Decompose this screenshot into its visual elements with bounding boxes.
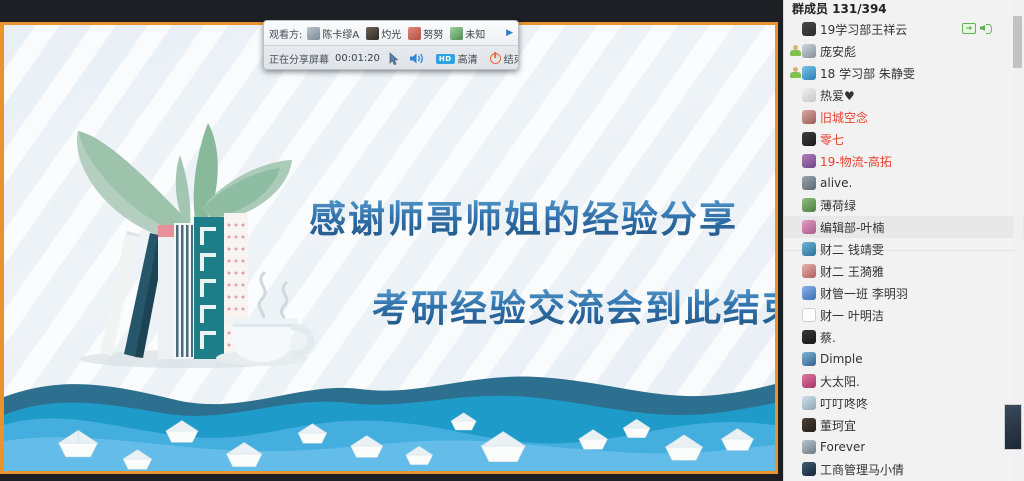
avatar xyxy=(802,176,816,190)
member-row[interactable]: 零七 xyxy=(784,128,1024,150)
avatar xyxy=(802,462,816,476)
member-row[interactable]: 大太阳. xyxy=(784,370,1024,392)
member-row[interactable]: 叮叮咚咚 xyxy=(784,392,1024,414)
member-name: 叮叮咚咚 xyxy=(820,395,868,412)
wave-decoration xyxy=(4,351,775,471)
power-icon xyxy=(490,53,501,64)
viewer-chip-3[interactable]: 未知 xyxy=(450,26,485,41)
viewers-label: 观看方: xyxy=(269,26,302,41)
member-row[interactable]: alive. xyxy=(784,172,1024,194)
member-row[interactable]: 旧城空念 xyxy=(784,106,1024,128)
member-row[interactable]: 财二 王漪雅 xyxy=(784,260,1024,282)
member-row[interactable]: 蔡. xyxy=(784,326,1024,348)
member-row[interactable]: Forever xyxy=(784,436,1024,458)
hd-badge: HD xyxy=(436,54,455,64)
member-name: 零七 xyxy=(820,131,844,148)
member-name: 编辑部-叶楠 xyxy=(820,219,884,236)
member-name: 财二 王漪雅 xyxy=(820,263,884,280)
hd-label: 高清 xyxy=(458,51,478,66)
avatar xyxy=(802,88,816,102)
video-thumbnail-preview[interactable] xyxy=(1004,404,1022,450)
avatar xyxy=(802,242,816,256)
avatar xyxy=(802,132,816,146)
slide-headline-secondary: 考研经验交流会到此结束 xyxy=(372,278,775,332)
member-name: 19-物流-高拓 xyxy=(820,153,892,170)
member-row[interactable]: 庞安彪 xyxy=(784,40,1024,62)
avatar xyxy=(802,110,816,124)
screen-share-highlight-frame: 感谢师哥师姐的经验分享 考研经验交流会到此结束 xyxy=(0,22,778,474)
viewer-name: 未知 xyxy=(465,26,485,41)
avatar xyxy=(802,154,816,168)
member-name: 庞安彪 xyxy=(820,43,856,60)
viewer-avatar xyxy=(366,27,379,40)
member-row-icons xyxy=(962,22,992,34)
viewer-chip-0[interactable]: 陈卡缪A xyxy=(307,26,359,41)
avatar xyxy=(802,198,816,212)
scrollbar-thumb[interactable] xyxy=(1013,16,1022,68)
avatar xyxy=(802,22,816,36)
member-row[interactable]: 热爱♥ xyxy=(784,84,1024,106)
sharing-status-label: 正在分享屏幕 xyxy=(269,51,329,66)
member-row[interactable]: 薄荷绿 xyxy=(784,194,1024,216)
member-panel-header: 群成员 131/394 xyxy=(784,0,1024,18)
member-row[interactable]: 18 学习部 朱静雯 xyxy=(784,62,1024,84)
avatar xyxy=(802,440,816,454)
viewer-avatar xyxy=(450,27,463,40)
viewer-name: 陈卡缪A xyxy=(322,26,359,41)
member-name: 财一 叶明洁 xyxy=(820,307,884,324)
avatar xyxy=(802,352,816,366)
end-share-button[interactable]: 结束分享 xyxy=(490,51,519,66)
member-row[interactable]: 财二 钱靖雯 xyxy=(784,238,1024,260)
share-screen-icon[interactable] xyxy=(962,23,976,34)
slide-headline-primary: 感谢师哥师姐的经验分享 xyxy=(309,189,738,243)
cursor-pointer-icon[interactable] xyxy=(388,52,401,66)
avatar xyxy=(802,330,816,344)
avatar xyxy=(802,418,816,432)
viewer-name: 灼光 xyxy=(381,26,401,41)
avatar xyxy=(802,374,816,388)
member-row[interactable]: 19-物流-高拓 xyxy=(784,150,1024,172)
member-name: alive. xyxy=(820,176,852,190)
avatar xyxy=(802,396,816,410)
viewer-name: 努努 xyxy=(423,26,443,41)
screen-share-toolbar[interactable]: 观看方: 陈卡缪A 灼光 努努 未知 ▶ 正在分享屏幕 00:01:20 xyxy=(263,20,519,70)
speaker-volume-icon[interactable] xyxy=(409,52,424,65)
member-name: 财管一班 李明羽 xyxy=(820,285,908,302)
group-member-panel: 群成员 131/394 19学习部王祥云庞安彪18 学习部 朱静雯热爱♥旧城空念… xyxy=(783,0,1024,481)
avatar xyxy=(802,66,816,80)
share-timer: 00:01:20 xyxy=(335,53,380,64)
end-share-label: 结束分享 xyxy=(504,51,519,66)
member-row[interactable]: Dimple xyxy=(784,348,1024,370)
member-row[interactable]: 财一 叶明洁 xyxy=(784,304,1024,326)
member-row[interactable]: 工商管理马小倩 xyxy=(784,458,1024,480)
member-role-icon xyxy=(790,45,801,57)
hd-quality-button[interactable]: HD 高清 xyxy=(436,51,478,66)
member-name: 旧城空念 xyxy=(820,109,868,126)
avatar xyxy=(802,286,816,300)
toolbar-status-row: 正在分享屏幕 00:01:20 HD 高清 结束分享 xyxy=(264,46,518,70)
book-stack xyxy=(100,213,248,359)
member-row[interactable]: 财管一班 李明羽 xyxy=(784,282,1024,304)
member-name: 热爱♥ xyxy=(820,87,855,104)
member-name: 董珂宜 xyxy=(820,417,856,434)
avatar xyxy=(802,308,816,322)
presentation-slide: 感谢师哥师姐的经验分享 考研经验交流会到此结束 xyxy=(4,25,775,471)
member-name: 薄荷绿 xyxy=(820,197,856,214)
avatar xyxy=(802,44,816,58)
viewer-chip-2[interactable]: 努努 xyxy=(408,26,443,41)
member-row[interactable]: 19学习部王祥云 xyxy=(784,18,1024,40)
member-list[interactable]: 19学习部王祥云庞安彪18 学习部 朱静雯热爱♥旧城空念零七19-物流-高拓al… xyxy=(784,18,1024,481)
member-name: Dimple xyxy=(820,352,863,366)
member-name: Forever xyxy=(820,440,865,454)
speaker-icon[interactable] xyxy=(980,22,992,34)
avatar xyxy=(802,264,816,278)
member-role-icon xyxy=(790,67,801,79)
member-row[interactable]: 董珂宜 xyxy=(784,414,1024,436)
viewer-avatar xyxy=(307,27,320,40)
toolbar-viewers-row: 观看方: 陈卡缪A 灼光 努努 未知 ▶ xyxy=(264,21,518,46)
shared-screen-region: 感谢师哥师姐的经验分享 考研经验交流会到此结束 xyxy=(0,0,783,481)
member-name: 财二 钱靖雯 xyxy=(820,241,884,258)
viewers-next-arrow-icon[interactable]: ▶ xyxy=(502,28,513,38)
avatar xyxy=(802,220,816,234)
member-name: 18 学习部 朱静雯 xyxy=(820,65,915,82)
viewer-chip-1[interactable]: 灼光 xyxy=(366,26,401,41)
viewer-avatar xyxy=(408,27,421,40)
member-name: 大太阳. xyxy=(820,373,860,390)
member-name: 蔡. xyxy=(820,329,836,346)
member-name: 19学习部王祥云 xyxy=(820,21,907,38)
member-name: 工商管理马小倩 xyxy=(820,461,904,478)
member-row[interactable]: 编辑部-叶楠 xyxy=(784,216,1024,238)
plant-leaves xyxy=(77,123,292,235)
